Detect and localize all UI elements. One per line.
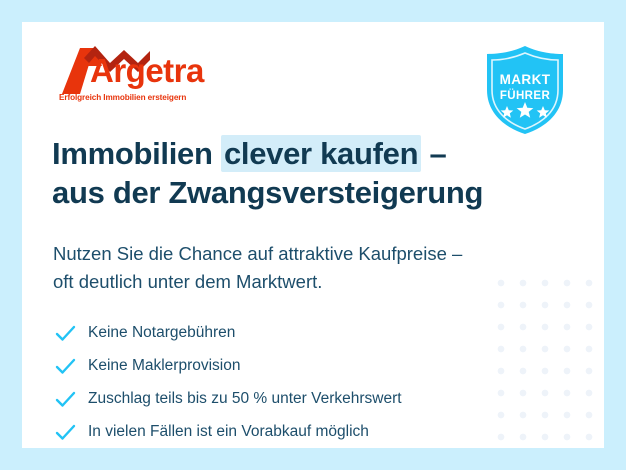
logo-tagline: Erfolgreich Immobilien ersteigern bbox=[59, 93, 186, 102]
check-icon bbox=[55, 322, 83, 344]
subheading: Nutzen Sie die Chance auf attraktive Kau… bbox=[53, 240, 573, 296]
list-item-label: In vielen Fällen ist ein Vorabkauf mögli… bbox=[83, 424, 369, 440]
list-item: Keine Maklerprovision bbox=[55, 351, 525, 381]
page-title: Immobilien clever kaufen – aus der Zwang… bbox=[52, 134, 572, 213]
badge-line2: FÜHRER bbox=[500, 89, 551, 102]
logo-wordmark: Argetra bbox=[90, 54, 204, 87]
promo-banner: Argetra Erfolgreich Immobilien ersteiger… bbox=[0, 0, 626, 470]
argetra-logo[interactable]: Argetra Erfolgreich Immobilien ersteiger… bbox=[58, 44, 238, 118]
headline-line2: aus der Zwangsversteigerung bbox=[52, 175, 483, 210]
badge-line1: MARKT bbox=[500, 72, 551, 87]
headline-line1-after: – bbox=[421, 136, 446, 171]
list-item: In vielen Fällen ist ein Vorabkauf mögli… bbox=[55, 417, 525, 447]
subheading-line1: Nutzen Sie die Chance auf attraktive Kau… bbox=[53, 243, 462, 264]
list-item: Zuschlag teils bis zu 50 % unter Verkehr… bbox=[55, 384, 525, 414]
market-leader-badge: MARKT FÜHRER bbox=[482, 44, 568, 136]
list-item: Keine Notargebühren bbox=[55, 318, 525, 348]
list-item-label: Zuschlag teils bis zu 50 % unter Verkehr… bbox=[83, 391, 402, 407]
banner-card: Argetra Erfolgreich Immobilien ersteiger… bbox=[22, 22, 604, 448]
subheading-line2: oft deutlich unter dem Marktwert. bbox=[53, 271, 322, 292]
benefit-checklist: Keine Notargebühren Keine Maklerprovisio… bbox=[55, 318, 525, 448]
list-item-label: Keine Maklerprovision bbox=[83, 358, 241, 374]
check-icon bbox=[55, 355, 83, 377]
headline-line1-before: Immobilien bbox=[52, 136, 221, 171]
check-icon bbox=[55, 388, 83, 410]
list-item-label: Keine Notargebühren bbox=[83, 325, 235, 341]
check-icon bbox=[55, 421, 83, 443]
headline-highlight: clever kaufen bbox=[221, 135, 421, 172]
